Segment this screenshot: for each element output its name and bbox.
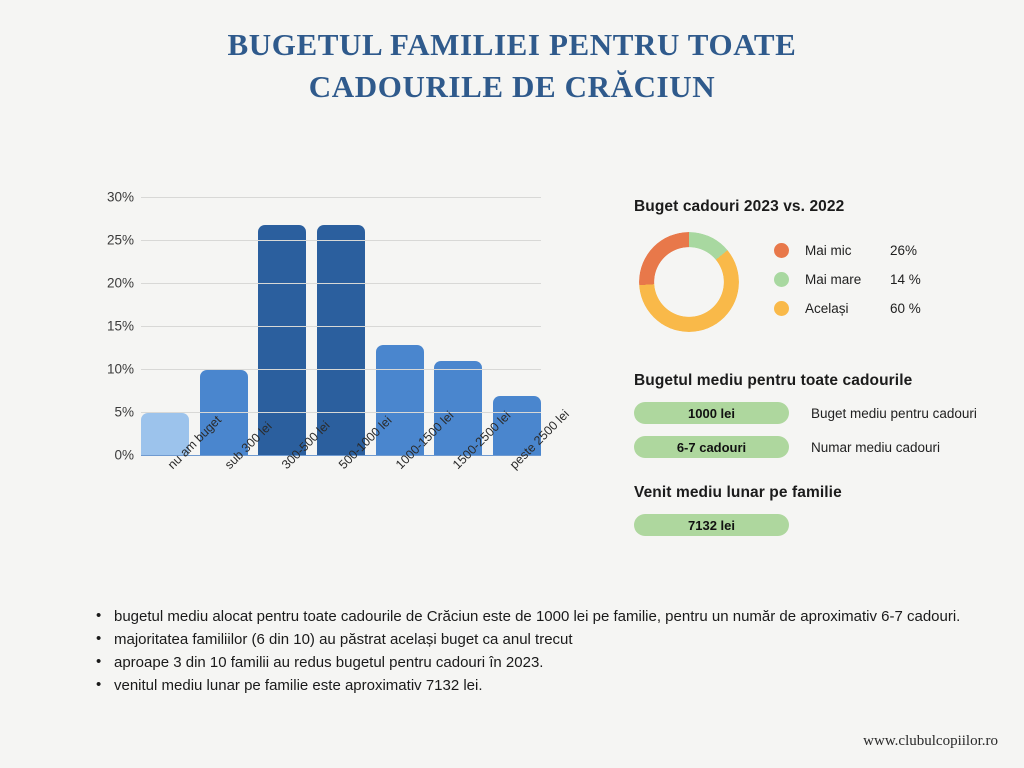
y-axis-tick-label: 15%: [88, 319, 134, 334]
grid-line: [141, 369, 541, 370]
legend-label: Mai mare: [805, 272, 890, 287]
list-item: aproape 3 din 10 familii au redus bugetu…: [92, 652, 982, 674]
page-title: BUGETUL FAMILIEI PENTRU TOATE CADOURILE …: [0, 24, 1024, 108]
budget-section-heading: Bugetul mediu pentru toate cadourile: [634, 372, 1014, 390]
y-axis-tick-label: 0%: [88, 448, 134, 463]
legend-swatch-icon: [774, 301, 789, 316]
budget-pill: 6-7 cadouri: [634, 436, 789, 458]
donut-chart: [639, 232, 739, 332]
y-axis-tick-label: 5%: [88, 405, 134, 420]
page-title-line-2: CADOURILE DE CRĂCIUN: [0, 66, 1024, 108]
page-title-line-1: BUGETUL FAMILIEI PENTRU TOATE: [228, 27, 797, 62]
list-item: venitul mediu lunar pe familie este apro…: [92, 675, 982, 697]
budget-row: 6-7 cadouriNumar mediu cadouri: [634, 436, 1014, 458]
bar-chart-plot-area: [141, 197, 541, 456]
donut-legend-item: Mai mic26%: [774, 236, 921, 265]
bar-chart-y-axis: 0%5%10%15%20%25%30%: [88, 186, 134, 458]
list-item: bugetul mediu alocat pentru toate cadour…: [92, 606, 982, 628]
right-column: Buget cadouri 2023 vs. 2022 Mai mic26%Ma…: [634, 198, 1014, 536]
income-pill-row: 7132 lei: [634, 514, 1014, 536]
grid-line: [141, 326, 541, 327]
bar-chart-x-axis-labels: nu am bugetsub 300 lei300-500 lei500-100…: [141, 462, 541, 542]
income-pill: 7132 lei: [634, 514, 789, 536]
budget-row: 1000 leiBuget mediu pentru cadouri: [634, 402, 1014, 424]
budget-caption: Buget mediu pentru cadouri: [811, 406, 977, 421]
donut-legend-item: Același60 %: [774, 294, 921, 323]
legend-swatch-icon: [774, 243, 789, 258]
income-section: Venit mediu lunar pe familie 7132 lei: [634, 484, 1014, 536]
donut-section: Mai mic26%Mai mare14 %Același60 %: [634, 232, 1014, 352]
donut-section-heading: Buget cadouri 2023 vs. 2022: [634, 198, 1014, 216]
y-axis-tick-label: 25%: [88, 233, 134, 248]
legend-value: 14 %: [890, 272, 921, 287]
budget-rows: 1000 leiBuget mediu pentru cadouri6-7 ca…: [634, 402, 1014, 458]
y-axis-tick-label: 30%: [88, 190, 134, 205]
income-section-heading: Venit mediu lunar pe familie: [634, 484, 1014, 502]
y-axis-tick-label: 20%: [88, 276, 134, 291]
legend-label: Mai mic: [805, 243, 890, 258]
grid-line: [141, 283, 541, 284]
infographic-page: BUGETUL FAMILIEI PENTRU TOATE CADOURILE …: [0, 0, 1024, 768]
budget-section: Bugetul mediu pentru toate cadourile 100…: [634, 372, 1014, 458]
donut-legend-item: Mai mare14 %: [774, 265, 921, 294]
grid-line: [141, 412, 541, 413]
grid-line: [141, 197, 541, 198]
bar-chart: 0%5%10%15%20%25%30% nu am bugetsub 300 l…: [88, 186, 558, 476]
budget-pill: 1000 lei: [634, 402, 789, 424]
legend-swatch-icon: [774, 272, 789, 287]
insight-bullet-list: bugetul mediu alocat pentru toate cadour…: [92, 606, 982, 698]
budget-caption: Numar mediu cadouri: [811, 440, 940, 455]
y-axis-tick-label: 10%: [88, 362, 134, 377]
footer-url: www.clubulcopiilor.ro: [863, 733, 998, 750]
donut-legend: Mai mic26%Mai mare14 %Același60 %: [774, 236, 921, 323]
grid-line: [141, 240, 541, 241]
legend-value: 26%: [890, 243, 917, 258]
legend-value: 60 %: [890, 301, 921, 316]
list-item: majoritatea familiilor (6 din 10) au păs…: [92, 629, 982, 651]
legend-label: Același: [805, 301, 890, 316]
